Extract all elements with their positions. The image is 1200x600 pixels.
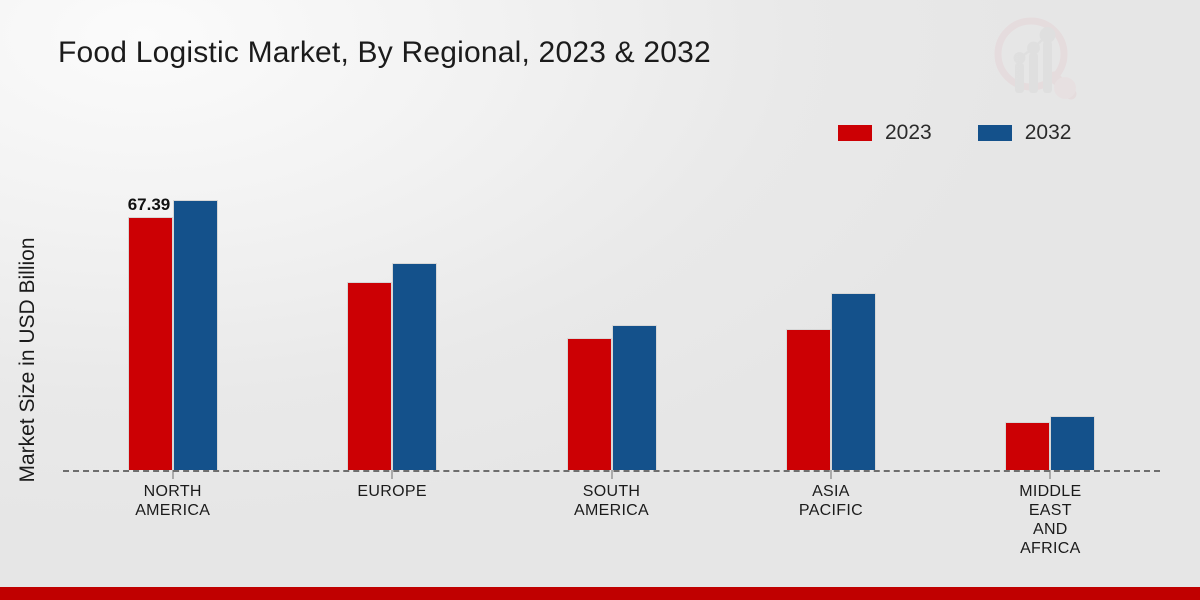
bar-pair [1005, 170, 1095, 470]
bar-group: MIDDLE EAST AND AFRICA [941, 170, 1160, 470]
x-axis-category-label: EUROPE [357, 482, 426, 501]
page-title: Food Logistic Market, By Regional, 2023 … [58, 36, 711, 70]
bar-2032[interactable] [392, 263, 437, 470]
legend-label-2023: 2023 [885, 122, 932, 143]
bar-2023[interactable] [1005, 422, 1050, 470]
bar-2023[interactable] [567, 338, 612, 470]
legend-swatch-2023 [838, 125, 872, 141]
x-axis-category-label: NORTH AMERICA [135, 482, 210, 520]
bar-group: EUROPE [282, 170, 501, 470]
bar-group: 67.39NORTH AMERICA [63, 170, 282, 470]
legend-swatch-2032 [978, 125, 1012, 141]
bar-2032[interactable] [173, 200, 218, 470]
bar-value-label: 67.39 [128, 195, 171, 215]
bar-groups: 67.39NORTH AMERICAEUROPESOUTH AMERICAASI… [63, 170, 1160, 470]
x-axis-category-label: SOUTH AMERICA [574, 482, 649, 520]
x-axis-tick [172, 470, 173, 479]
watermark-logo [985, 8, 1085, 108]
bottom-accent-stripe [0, 587, 1200, 600]
legend-item-2023[interactable]: 2023 [838, 122, 932, 143]
bar-2032[interactable] [1050, 416, 1095, 470]
x-axis-tick [611, 470, 612, 479]
legend-item-2032[interactable]: 2032 [978, 122, 1072, 143]
x-axis-tick [1050, 470, 1051, 479]
bar-group: ASIA PACIFIC [721, 170, 940, 470]
bar-pair [567, 170, 657, 470]
plot-area: 67.39NORTH AMERICAEUROPESOUTH AMERICAASI… [63, 170, 1160, 470]
bar-2032[interactable] [831, 293, 876, 470]
legend-label-2032: 2032 [1025, 122, 1072, 143]
bar-2023[interactable] [347, 282, 392, 470]
x-axis-tick [392, 470, 393, 479]
bar-group: SOUTH AMERICA [502, 170, 721, 470]
bar-pair [786, 170, 876, 470]
y-axis-title: Market Size in USD Billion [16, 190, 40, 530]
x-axis-tick [830, 470, 831, 479]
x-axis-category-label: MIDDLE EAST AND AFRICA [1019, 482, 1081, 558]
bar-2023[interactable] [786, 329, 831, 470]
bar-pair [128, 170, 218, 470]
bar-pair [347, 170, 437, 470]
chart-canvas: Food Logistic Market, By Regional, 2023 … [0, 0, 1200, 600]
bar-2023[interactable] [128, 217, 173, 470]
chart-legend: 2023 2032 [838, 122, 1071, 143]
bar-2032[interactable] [612, 325, 657, 470]
x-axis-category-label: ASIA PACIFIC [799, 482, 863, 520]
